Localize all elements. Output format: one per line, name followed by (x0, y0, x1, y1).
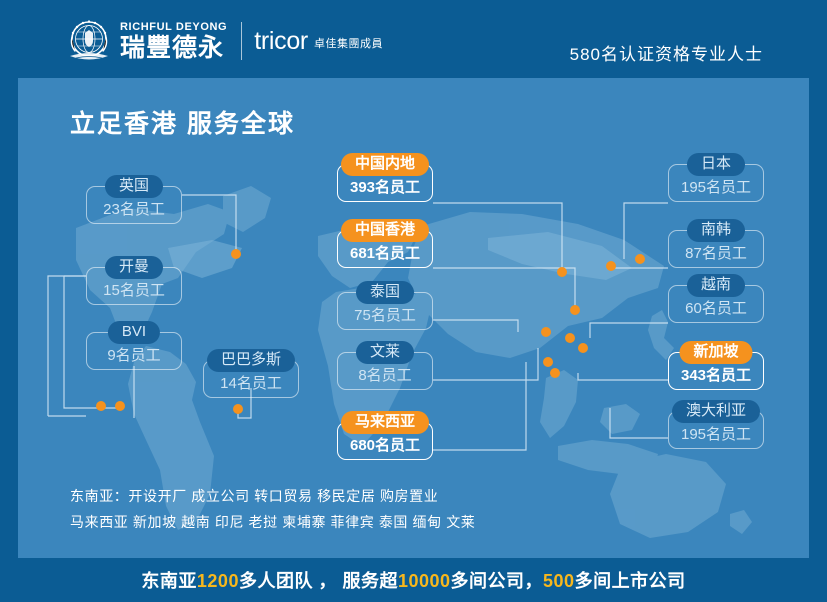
country-name-uk: 英国 (105, 175, 163, 198)
brand-name-en: RICHFUL DEYONG (120, 21, 227, 34)
page-title: 立足香港 服务全球 (70, 104, 295, 140)
footer-num-2: 10000 (398, 571, 451, 591)
dot-barbados[interactable] (233, 404, 243, 414)
dot-thailand[interactable] (541, 327, 551, 337)
header-tagline: 580名认证资格专业人士 (570, 40, 763, 65)
brand-divider (241, 22, 242, 60)
page-footer: 东南亚1200多人团队 ， 服务超10000多间公司，500多间上市公司 (0, 558, 827, 602)
country-name-hongkong: 中国香港 (341, 219, 429, 242)
dot-mainland[interactable] (557, 267, 567, 277)
dot-bvi-1[interactable] (96, 401, 106, 411)
dot-bvi-2[interactable] (115, 401, 125, 411)
country-name-vietnam: 越南 (687, 274, 745, 297)
dot-malaysia[interactable] (543, 357, 553, 367)
notes-line-2: 马来西亚 新加坡 越南 印尼 老挝 柬埔寨 菲律宾 泰国 缅甸 文莱 (70, 509, 475, 535)
partner-brand: tricor 卓佳集團成員 (254, 28, 383, 54)
country-name-mainland: 中国内地 (341, 153, 429, 176)
partner-name: tricor (254, 28, 308, 54)
country-name-barbados: 巴巴多斯 (207, 349, 295, 372)
country-name-cayman: 开曼 (105, 256, 163, 279)
footer-num-3: 500 (543, 571, 575, 591)
partner-subtitle: 卓佳集團成員 (314, 35, 383, 54)
brand-name-cn: 瑞豐德永 (120, 35, 227, 62)
brand-logo: RICHFUL DEYONG 瑞豐德永 tricor 卓佳集團成員 (64, 17, 383, 65)
footer-seg-4: 多间上市公司 (575, 571, 686, 591)
footer-seg-2: 多人团队 ， 服务超 (239, 571, 398, 591)
slide-root: RICHFUL DEYONG 瑞豐德永 tricor 卓佳集團成員 580名认证… (0, 0, 827, 602)
country-name-southkorea: 南韩 (687, 219, 745, 242)
dot-hongkong[interactable] (570, 305, 580, 315)
crest-emblem-icon (64, 17, 114, 65)
dot-southkorea[interactable] (606, 261, 616, 271)
map-panel: 立足香港 服务全球 23名员工英国15名员工开曼9名员工BVI14名员工巴巴多斯… (18, 78, 809, 558)
page-header: RICHFUL DEYONG 瑞豐德永 tricor 卓佳集團成員 580名认证… (0, 0, 827, 78)
country-name-thailand: 泰国 (356, 281, 414, 304)
country-name-japan: 日本 (687, 153, 745, 176)
footer-seg-1: 东南亚 (141, 571, 197, 591)
dot-vietnam[interactable] (565, 333, 575, 343)
country-name-malaysia: 马来西亚 (341, 411, 429, 434)
country-name-brunei: 文莱 (356, 341, 414, 364)
dot-philippines[interactable] (578, 343, 588, 353)
footer-num-1: 1200 (197, 571, 239, 591)
footer-summary: 东南亚1200多人团队 ， 服务超10000多间公司，500多间上市公司 (141, 567, 685, 593)
notes-line-1: 东南亚：开设开厂 成立公司 转口贸易 移民定居 购房置业 (70, 483, 475, 509)
dot-japan[interactable] (635, 254, 645, 264)
brand-names: RICHFUL DEYONG 瑞豐德永 (120, 21, 227, 62)
country-name-singapore: 新加坡 (679, 341, 752, 364)
country-name-australia: 澳大利亚 (672, 400, 760, 423)
country-name-bvi: BVI (108, 321, 160, 344)
footer-seg-3: 多间公司， (451, 571, 544, 591)
dot-singapore[interactable] (550, 368, 560, 378)
dot-europe[interactable] (231, 249, 241, 259)
notes-block: 东南亚：开设开厂 成立公司 转口贸易 移民定居 购房置业 马来西亚 新加坡 越南… (70, 483, 475, 535)
